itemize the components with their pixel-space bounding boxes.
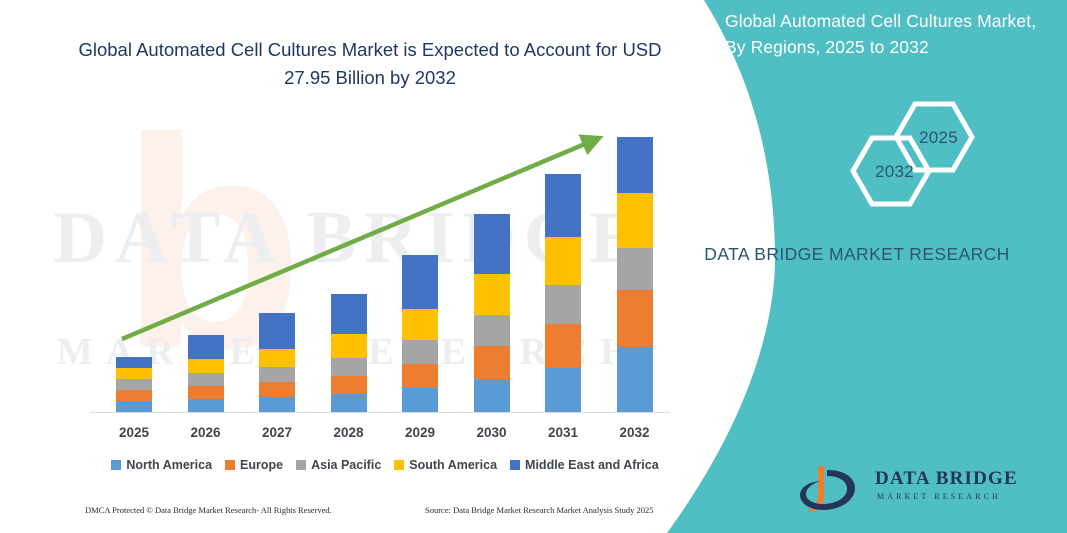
panel-title: Global Automated Cell Cultures Market, B… xyxy=(725,8,1055,60)
x-axis-label-2031: 2031 xyxy=(528,425,598,440)
bar-segment-north-america xyxy=(474,379,510,412)
bar-segment-middle-east-and-africa xyxy=(188,335,224,359)
bar-segment-north-america xyxy=(402,388,438,412)
bar-segment-north-america xyxy=(116,401,152,412)
footer-copyright: DMCA Protected © Data Bridge Market Rese… xyxy=(85,505,332,515)
bar-2025 xyxy=(116,357,152,412)
bar-segment-south-america xyxy=(116,368,152,379)
bar-segment-middle-east-and-africa xyxy=(474,214,510,274)
x-axis-label-2028: 2028 xyxy=(314,425,384,440)
legend-swatch-icon xyxy=(296,460,306,470)
legend-label: North America xyxy=(126,458,212,472)
bar-segment-middle-east-and-africa xyxy=(545,174,581,237)
bar-segment-asia-pacific xyxy=(188,373,224,386)
right-panel: Global Automated Cell Cultures Market, B… xyxy=(647,0,1067,533)
x-axis-label-2029: 2029 xyxy=(385,425,455,440)
bar-segment-europe xyxy=(545,324,581,368)
legend-swatch-icon xyxy=(111,460,121,470)
bar-2031 xyxy=(545,174,581,412)
infographic-canvas: b DATA BRIDGE MARKET RESEARCH Global Aut… xyxy=(0,0,1067,533)
bar-2029 xyxy=(402,255,438,412)
bar-segment-europe xyxy=(331,376,367,394)
bar-segment-europe xyxy=(402,364,438,388)
legend-label: Europe xyxy=(240,458,283,472)
legend-swatch-icon xyxy=(394,460,404,470)
legend-item-north-america[interactable]: North America xyxy=(111,458,212,472)
bar-segment-south-america xyxy=(259,349,295,367)
bar-segment-europe xyxy=(259,382,295,397)
bar-segment-asia-pacific xyxy=(259,367,295,382)
legend-item-middle-east-and-africa[interactable]: Middle East and Africa xyxy=(510,458,659,472)
legend-label: South America xyxy=(409,458,497,472)
hexagon-label-end: 2032 xyxy=(875,162,914,182)
bar-2026 xyxy=(188,335,224,412)
bar-2027 xyxy=(259,313,295,412)
hexagon-group: 2025 2032 xyxy=(767,95,1057,215)
bar-segment-asia-pacific xyxy=(331,358,367,376)
footer: DMCA Protected © Data Bridge Market Rese… xyxy=(0,505,700,527)
bar-2028 xyxy=(331,294,367,412)
bar-segment-asia-pacific xyxy=(474,315,510,346)
legend-item-asia-pacific[interactable]: Asia Pacific xyxy=(296,458,381,472)
bar-segment-south-america xyxy=(402,309,438,340)
bar-segment-europe xyxy=(474,346,510,379)
logo-primary-text: DATA BRIDGE xyxy=(875,468,1018,490)
x-axis-label-2026: 2026 xyxy=(171,425,241,440)
bar-segment-europe xyxy=(116,390,152,401)
x-axis-label-2030: 2030 xyxy=(457,425,527,440)
bar-segment-north-america xyxy=(188,399,224,412)
bar-segment-north-america xyxy=(545,368,581,412)
bar-segment-middle-east-and-africa xyxy=(259,313,295,349)
bar-segment-south-america xyxy=(545,237,581,285)
hexagon-label-start: 2025 xyxy=(919,128,958,148)
footer-source: Source: Data Bridge Market Research Mark… xyxy=(425,505,654,515)
legend-item-europe[interactable]: Europe xyxy=(225,458,283,472)
bar-segment-middle-east-and-africa xyxy=(402,255,438,309)
hexagon-outlines-icon xyxy=(767,95,1057,215)
bar-segment-north-america xyxy=(259,397,295,412)
stacked-bar-chart: 20252026202720282029203020312032 xyxy=(0,0,700,470)
bar-segment-middle-east-and-africa xyxy=(331,294,367,334)
bar-segment-south-america xyxy=(188,359,224,373)
logo-secondary-text: MARKET RESEARCH xyxy=(877,492,1001,501)
brand-logo: DATA BRIDGE MARKET RESEARCH xyxy=(797,462,1047,522)
chart-legend: North AmericaEuropeAsia PacificSouth Ame… xyxy=(90,455,680,475)
bar-segment-middle-east-and-africa xyxy=(116,357,152,368)
bar-segment-europe xyxy=(188,386,224,399)
bar-segment-north-america xyxy=(331,394,367,412)
bar-2030 xyxy=(474,214,510,412)
legend-swatch-icon xyxy=(510,460,520,470)
legend-swatch-icon xyxy=(225,460,235,470)
x-axis-label-2027: 2027 xyxy=(242,425,312,440)
legend-item-south-america[interactable]: South America xyxy=(394,458,497,472)
legend-label: Asia Pacific xyxy=(311,458,381,472)
legend-label: Middle East and Africa xyxy=(525,458,659,472)
bar-segment-asia-pacific xyxy=(116,379,152,390)
panel-brand-text: DATA BRIDGE MARKET RESEARCH xyxy=(687,240,1027,268)
bar-segment-asia-pacific xyxy=(402,340,438,364)
databridge-logo-icon xyxy=(797,464,869,520)
bar-segment-asia-pacific xyxy=(545,285,581,324)
bar-segment-south-america xyxy=(331,334,367,358)
x-axis-label-2025: 2025 xyxy=(99,425,169,440)
bar-segment-south-america xyxy=(474,274,510,315)
